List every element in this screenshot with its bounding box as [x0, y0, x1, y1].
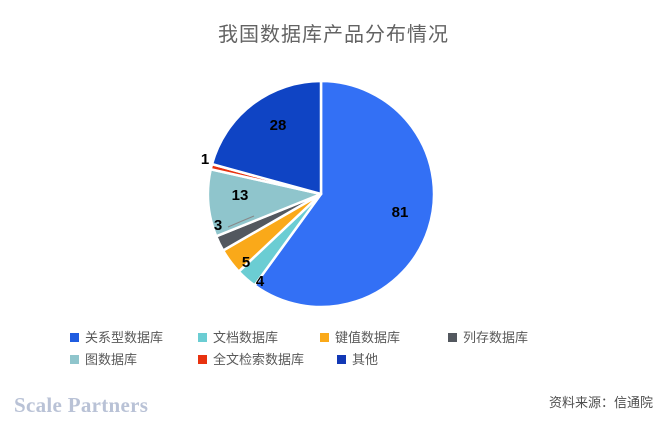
legend-swatch-icon — [337, 355, 346, 364]
pie-value-label: 28 — [270, 117, 287, 134]
legend-label: 文档数据库 — [213, 331, 278, 344]
watermark-scale-partners: Scale Partners — [14, 393, 148, 418]
legend-row-2: 图数据库 全文检索数据库 其他 — [70, 348, 610, 370]
legend-item-graph-db[interactable]: 图数据库 — [70, 353, 198, 366]
legend-item-other[interactable]: 其他 — [337, 353, 378, 366]
pie-value-label: 1 — [201, 151, 209, 168]
legend-label: 图数据库 — [85, 353, 137, 366]
pie-chart-figure: 我国数据库产品分布情况 8145313128 关系型数据库 文档数据库 键值数据… — [0, 0, 667, 428]
legend-swatch-icon — [198, 333, 207, 342]
pie-svg: 8145313128 — [178, 78, 464, 310]
legend-label: 其他 — [352, 353, 378, 366]
legend-item-document-db[interactable]: 文档数据库 — [198, 331, 320, 344]
legend-swatch-icon — [70, 355, 79, 364]
legend-label: 列存数据库 — [463, 331, 528, 344]
legend-item-keyvalue-db[interactable]: 键值数据库 — [320, 331, 448, 344]
legend-label: 键值数据库 — [335, 331, 400, 344]
legend-swatch-icon — [448, 333, 457, 342]
chart-title: 我国数据库产品分布情况 — [0, 18, 667, 47]
legend-item-fulltext-search-db[interactable]: 全文检索数据库 — [198, 353, 337, 366]
pie-value-label: 13 — [232, 187, 249, 204]
chart-legend: 关系型数据库 文档数据库 键值数据库 列存数据库 图数据库 全文检索数 — [70, 326, 610, 370]
legend-swatch-icon — [320, 333, 329, 342]
pie-value-label: 4 — [256, 273, 265, 290]
legend-item-columnar-db[interactable]: 列存数据库 — [448, 331, 528, 344]
pie-value-label: 3 — [214, 217, 222, 234]
legend-label: 全文检索数据库 — [213, 353, 304, 366]
pie-plot-area: 8145313128 — [178, 78, 464, 310]
source-note: 资料来源：信通院 — [549, 392, 653, 411]
legend-item-relational-db[interactable]: 关系型数据库 — [70, 331, 198, 344]
legend-swatch-icon — [70, 333, 79, 342]
pie-value-label: 5 — [242, 254, 250, 271]
legend-label: 关系型数据库 — [85, 331, 163, 344]
legend-swatch-icon — [198, 355, 207, 364]
legend-row-1: 关系型数据库 文档数据库 键值数据库 列存数据库 — [70, 326, 610, 348]
pie-value-label: 81 — [392, 204, 409, 221]
